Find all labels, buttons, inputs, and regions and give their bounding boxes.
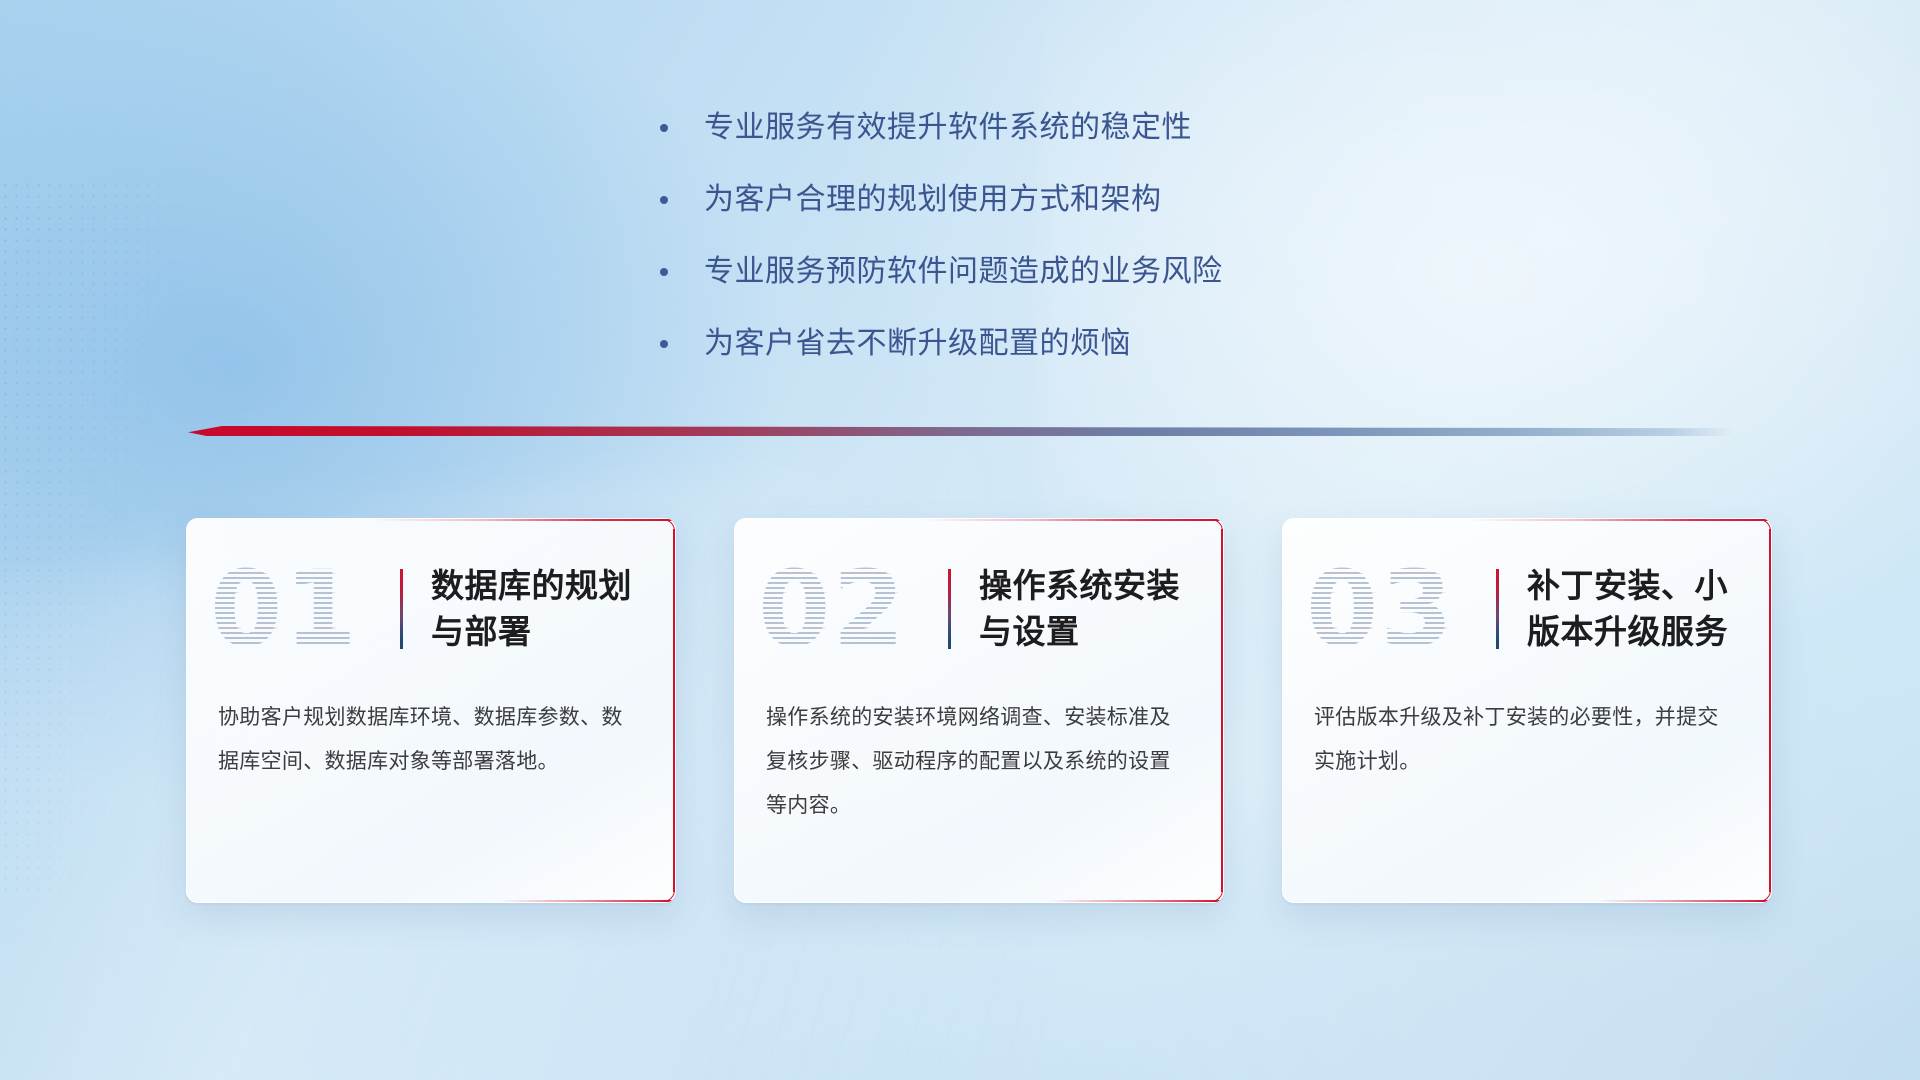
list-item: 专业服务预防软件问题造成的业务风险 xyxy=(660,252,1440,292)
bullet-text: 为客户合理的规划使用方式和架构 xyxy=(704,180,1162,220)
bullet-text: 为客户省去不断升级配置的烦恼 xyxy=(704,324,1131,364)
card-title: 操作系统安装与设置 xyxy=(979,563,1194,655)
card-row: 01 数据库的规划与部署 协助客户规划数据库环境、数据库参数、数据库空间、数据库… xyxy=(186,518,1772,903)
accent-corner-bottom-right xyxy=(1209,888,1223,902)
feature-card[interactable]: 01 数据库的规划与部署 协助客户规划数据库环境、数据库参数、数据库空间、数据库… xyxy=(186,518,676,903)
card-header: 02 操作系统安装与设置 xyxy=(734,518,1224,670)
list-item: 为客户合理的规划使用方式和架构 xyxy=(660,180,1440,220)
bullet-dot-icon xyxy=(660,196,668,204)
card-number: 01 xyxy=(210,557,400,661)
card-title-rule xyxy=(400,569,403,649)
feature-card[interactable]: 03 补丁安装、小版本升级服务 评估版本升级及补丁安装的必要性，并提交实施计划。 xyxy=(1282,518,1772,903)
accent-edge-bottom xyxy=(1047,900,1223,902)
card-title: 数据库的规划与部署 xyxy=(431,563,646,655)
list-item: 为客户省去不断升级配置的烦恼 xyxy=(660,324,1440,364)
bullet-dot-icon xyxy=(660,124,668,132)
accent-edge-bottom xyxy=(1595,900,1771,902)
bullet-dot-icon xyxy=(660,340,668,348)
card-header: 03 补丁安装、小版本升级服务 xyxy=(1282,518,1772,670)
divider-gradient-bar xyxy=(188,426,1733,436)
bullet-text: 专业服务预防软件问题造成的业务风险 xyxy=(704,252,1223,292)
bullet-dot-icon xyxy=(660,268,668,276)
card-body-text: 评估版本升级及补丁安装的必要性，并提交实施计划。 xyxy=(1282,670,1772,784)
section-divider xyxy=(188,426,1733,436)
card-title-rule xyxy=(1496,569,1499,649)
slide-root: 专业服务有效提升软件系统的稳定性 为客户合理的规划使用方式和架构 专业服务预防软… xyxy=(0,0,1920,1080)
bullet-list: 专业服务有效提升软件系统的稳定性 为客户合理的规划使用方式和架构 专业服务预防软… xyxy=(660,108,1440,396)
accent-edge-bottom xyxy=(499,900,675,902)
card-number: 03 xyxy=(1306,557,1496,661)
card-title: 补丁安装、小版本升级服务 xyxy=(1527,563,1742,655)
feature-card[interactable]: 02 操作系统安装与设置 操作系统的安装环境网络调查、安装标准及复核步骤、驱动程… xyxy=(734,518,1224,903)
card-header: 01 数据库的规划与部署 xyxy=(186,518,676,670)
card-number: 02 xyxy=(758,557,948,661)
card-body-text: 操作系统的安装环境网络调查、安装标准及复核步骤、驱动程序的配置以及系统的设置等内… xyxy=(734,670,1224,828)
accent-corner-bottom-right xyxy=(661,888,675,902)
card-body-text: 协助客户规划数据库环境、数据库参数、数据库空间、数据库对象等部署落地。 xyxy=(186,670,676,784)
accent-corner-bottom-right xyxy=(1757,888,1771,902)
list-item: 专业服务有效提升软件系统的稳定性 xyxy=(660,108,1440,148)
bullet-text: 专业服务有效提升软件系统的稳定性 xyxy=(704,108,1192,148)
card-title-rule xyxy=(948,569,951,649)
